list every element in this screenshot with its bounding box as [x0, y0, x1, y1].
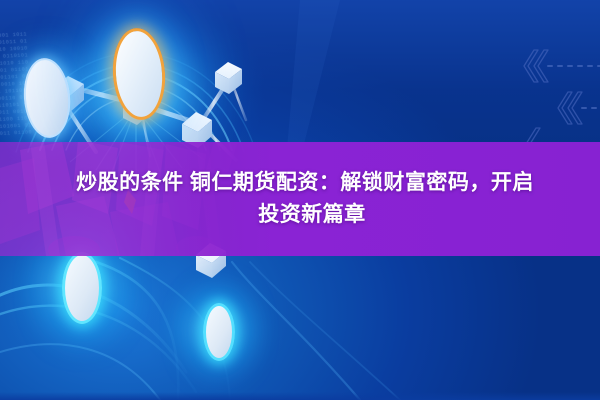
node-ellipse-lower-right	[203, 303, 235, 361]
banner-title-line-2: 投资新篇章	[258, 199, 366, 231]
background-top-sheen	[0, 0, 600, 150]
title-band: 炒股的条件 铜仁期货配资：解锁财富密码，开启 投资新篇章	[0, 142, 600, 256]
background-bottom-edge	[0, 392, 600, 400]
banner-title-line-1: 炒股的条件 铜仁期货配资：解锁财富密码，开启	[76, 167, 534, 199]
banner-image: 01001 1011 1001011 01 0110 10010 10 0110…	[0, 0, 600, 400]
node-ellipse-lower-left	[62, 252, 102, 324]
